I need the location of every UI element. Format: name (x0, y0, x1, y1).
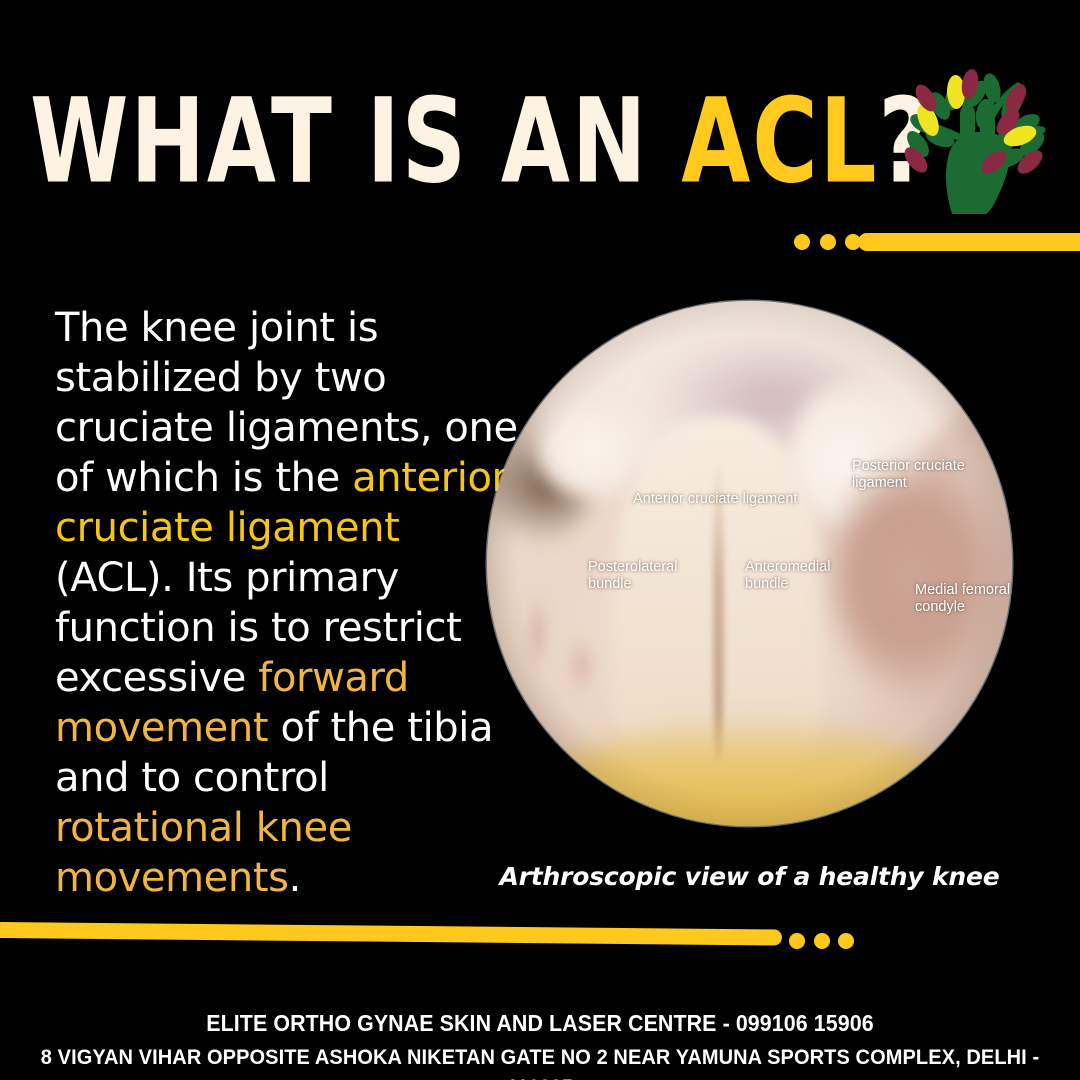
tree-logo-icon (884, 62, 1056, 214)
divider-dot (789, 933, 805, 949)
label-posterolateral-bundle: Posterolateral bundle (588, 559, 677, 593)
label-anterior-cruciate-ligament: Anterior cruciate ligament (633, 491, 797, 508)
figure-caption: Arthroscopic view of a healthy knee (487, 862, 1012, 891)
body-paragraph: The knee joint is stabilized by two cruc… (55, 303, 525, 903)
clinic-address: 8 VIGYAN VIHAR OPPOSITE ASHOKA NIKETAN G… (38, 1042, 1042, 1080)
title-text-accent: ACL (681, 73, 878, 210)
infographic-poster: WHAT IS AN ACL? (0, 0, 1080, 1080)
divider-dot (820, 234, 836, 250)
arthroscopy-figure: Anterior cruciate ligament Posterior cru… (487, 301, 1012, 826)
divider-bar (0, 922, 782, 946)
divider-bar (858, 233, 1080, 251)
top-divider (780, 229, 1080, 255)
clinic-name-and-phone: ELITE ORTHO GYNAE SKIN AND LASER CENTRE … (38, 1008, 1042, 1038)
label-posterior-cruciate-ligament: Posterior cruciate ligament (852, 458, 965, 492)
divider-dot (838, 933, 854, 949)
label-anteromedial-bundle: Anteromedial bundle (745, 559, 830, 593)
divider-dot (794, 234, 810, 250)
divider-dot (814, 933, 830, 949)
tree-logo (884, 62, 1056, 214)
label-medial-femoral-condyle: Medial femoral condyle (915, 582, 1010, 616)
arthroscopy-image: Anterior cruciate ligament Posterior cru… (487, 301, 1012, 826)
bottom-divider (0, 914, 860, 954)
page-title: WHAT IS AN ACL? (30, 74, 802, 208)
body-highlight-rotational: rotational knee movements (55, 805, 352, 901)
title-text-white: WHAT IS AN (30, 73, 681, 210)
footer: ELITE ORTHO GYNAE SKIN AND LASER CENTRE … (0, 1008, 1080, 1080)
body-segment: . (289, 855, 301, 901)
